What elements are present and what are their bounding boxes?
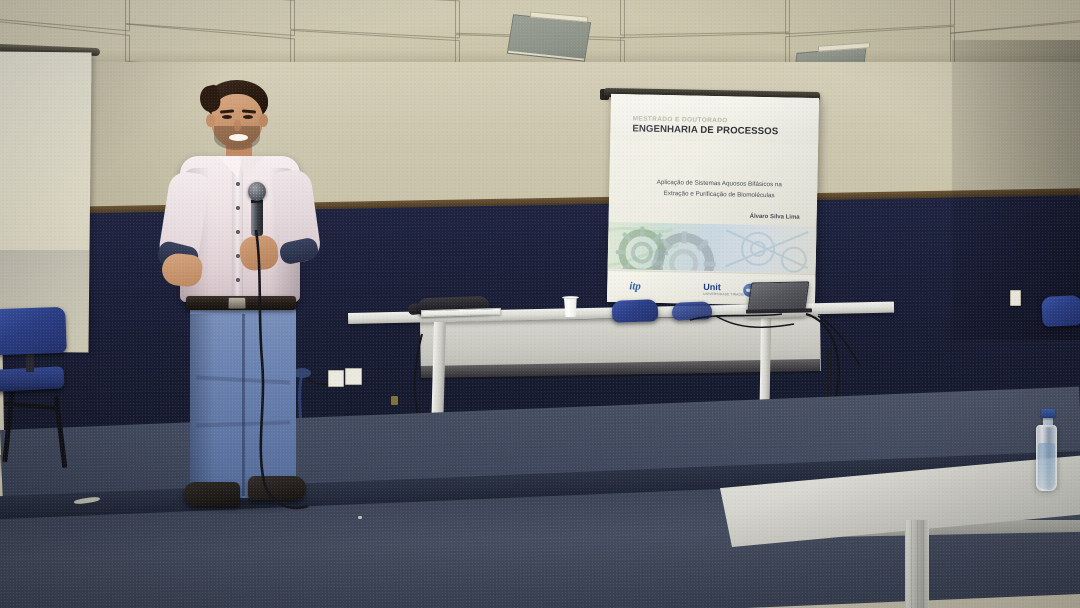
main-projection-screen: MESTRADO E DOUTORADO ENGENHARIA DE PROCE… — [607, 94, 819, 306]
screen-glare — [607, 94, 819, 306]
shirt-button — [236, 278, 240, 282]
foreground-table-leg-detail — [905, 520, 929, 608]
presenter-ear-right — [259, 114, 268, 127]
belt-buckle — [228, 297, 246, 309]
table-cables — [690, 304, 840, 374]
chair-stem — [26, 352, 34, 372]
presenter-nose — [234, 120, 241, 131]
shirt-button — [236, 206, 240, 210]
blue-chair-right-edge[interactable] — [1041, 295, 1080, 327]
presenter-eye-right — [243, 115, 253, 119]
bottle-cap[interactable] — [1041, 409, 1055, 418]
blue-chair-behind-table[interactable] — [612, 299, 659, 323]
bottle-water-level — [1038, 443, 1055, 489]
jeans-seam — [242, 314, 245, 496]
wall-light-switch[interactable] — [1010, 290, 1021, 306]
shirt-button — [236, 182, 240, 186]
blue-chair-left[interactable] — [0, 307, 67, 356]
lecture-hall-photo: MESTRADO E DOUTORADO ENGENHARIA DE PROCE… — [0, 0, 1080, 608]
microphone-cable — [246, 230, 316, 520]
presenter-eye-left — [222, 115, 232, 119]
ceiling-tile — [620, 0, 790, 35]
microphone-mesh — [249, 183, 265, 200]
bottle-neck — [1043, 417, 1053, 427]
presenter-hand-left — [160, 252, 203, 288]
presentation-slide: MESTRADO E DOUTORADO ENGENHARIA DE PROCE… — [607, 94, 819, 306]
shirt-button — [236, 230, 240, 234]
wall-fixture-small — [391, 396, 398, 405]
presenter-shoe-left — [184, 482, 240, 506]
jeans-shading — [190, 314, 214, 498]
floor-debris-small — [358, 516, 362, 519]
presenter-mouth — [229, 134, 248, 141]
